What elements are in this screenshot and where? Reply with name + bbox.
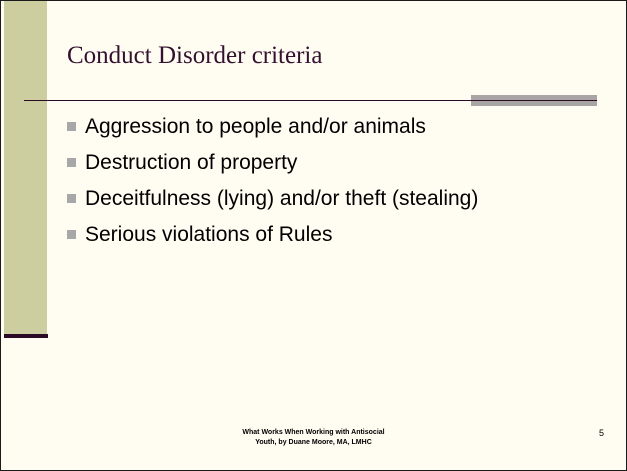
square-bullet-icon <box>67 230 76 239</box>
bullet-list: Aggression to people and/or animals Dest… <box>67 114 607 258</box>
square-bullet-icon <box>67 158 76 167</box>
list-item-label: Destruction of property <box>85 150 297 176</box>
footer-line-2: Youth, by Duane Moore, MA, LMHC <box>1 438 626 448</box>
slide-title: Conduct Disorder criteria <box>67 41 587 71</box>
list-item-label: Deceitfulness (lying) and/or theft (stea… <box>85 186 478 212</box>
list-item: Aggression to people and/or animals <box>67 114 607 141</box>
square-bullet-icon <box>67 194 76 203</box>
square-bullet-icon <box>67 122 76 131</box>
list-item: Deceitfulness (lying) and/or theft (stea… <box>67 186 607 213</box>
list-item: Destruction of property <box>67 150 607 177</box>
list-item-label: Aggression to people and/or animals <box>85 114 426 140</box>
list-item-label: Serious violations of Rules <box>85 222 332 248</box>
list-item: Serious violations of Rules <box>67 222 607 249</box>
left-accent-bar-foot <box>4 334 48 338</box>
left-accent-bar <box>4 1 47 334</box>
presentation-slide: Conduct Disorder criteria Aggression to … <box>0 0 627 471</box>
title-underline-rule <box>24 100 597 101</box>
footer-line-1: What Works When Working with Antisocial <box>1 428 626 438</box>
slide-footer: What Works When Working with Antisocial … <box>1 428 626 448</box>
slide-page-number: 5 <box>599 428 604 438</box>
